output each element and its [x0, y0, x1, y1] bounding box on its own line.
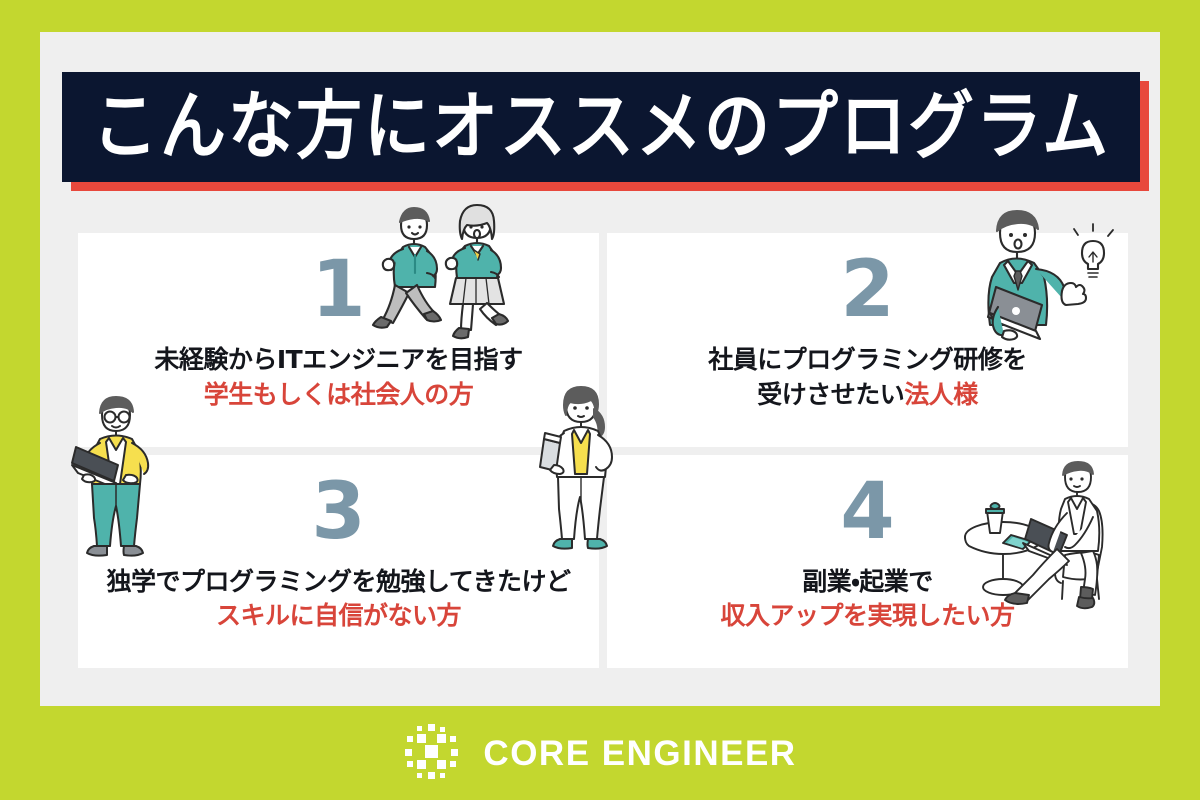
benefit-text-2: 社員にプログラミング研修を 受けさせたい法人様 — [708, 343, 1027, 412]
logo-wordmark: CORE ENGINEER — [483, 736, 796, 771]
benefit-number-1: 1 — [311, 251, 365, 329]
benefit-line-2a: 社員にプログラミング研修を — [708, 343, 1027, 378]
benefit-line-4a: 副業・起業で — [720, 565, 1014, 600]
benefit-number-4: 4 — [840, 473, 894, 551]
benefit-card-4-content: 4 副業・起業で 収入アップを実現したい方 — [607, 455, 1128, 669]
footer-logo: CORE ENGINEER — [0, 706, 1200, 800]
benefit-line-2b-highlight: 法人様 — [904, 380, 978, 409]
benefit-card-1-content: 1 未経験からITエンジニアを目指す 学生もしくは社会人の方 — [78, 233, 599, 447]
benefit-line-1a: 未経験からITエンジニアを目指す — [154, 343, 522, 378]
benefit-line-3a: 独学でプログラミングを勉強してきたけど — [106, 565, 570, 600]
slide-root: こんな方にオススメのプログラム — [0, 0, 1200, 800]
title-banner: こんな方にオススメのプログラム — [62, 72, 1140, 190]
pixel-dots-circle-icon — [403, 724, 461, 782]
benefit-line-1b: 学生もしくは社会人の方 — [154, 378, 522, 413]
benefit-card-3-content: 3 独学でプログラミングを勉強してきたけど スキルに自信がない方 — [78, 455, 599, 669]
benefit-card-4: 4 副業・起業で 収入アップを実現したい方 — [607, 455, 1128, 669]
benefit-card-3: 3 独学でプログラミングを勉強してきたけど スキルに自信がない方 — [78, 455, 599, 669]
benefit-card-2: 2 社員にプログラミング研修を 受けさせたい法人様 — [607, 233, 1128, 447]
benefit-line-2b: 受けさせたい法人様 — [708, 378, 1027, 413]
benefit-number-2: 2 — [840, 251, 894, 329]
benefit-line-3b: スキルに自信がない方 — [106, 599, 570, 634]
benefit-text-4: 副業・起業で 収入アップを実現したい方 — [720, 565, 1014, 634]
benefit-number-3: 3 — [311, 473, 365, 551]
benefit-card-grid: 1 未経験からITエンジニアを目指す 学生もしくは社会人の方 — [78, 233, 1128, 668]
benefit-text-1: 未経験からITエンジニアを目指す 学生もしくは社会人の方 — [154, 343, 522, 412]
benefit-card-2-content: 2 社員にプログラミング研修を 受けさせたい法人様 — [607, 233, 1128, 447]
benefit-line-2b-plain: 受けさせたい — [757, 380, 904, 409]
benefit-card-1: 1 未経験からITエンジニアを目指す 学生もしくは社会人の方 — [78, 233, 599, 447]
benefit-line-4b: 収入アップを実現したい方 — [720, 599, 1014, 634]
title-banner-bar: こんな方にオススメのプログラム — [62, 72, 1140, 182]
benefit-text-3: 独学でプログラミングを勉強してきたけど スキルに自信がない方 — [106, 565, 570, 634]
page-title: こんな方にオススメのプログラム — [92, 90, 1110, 164]
